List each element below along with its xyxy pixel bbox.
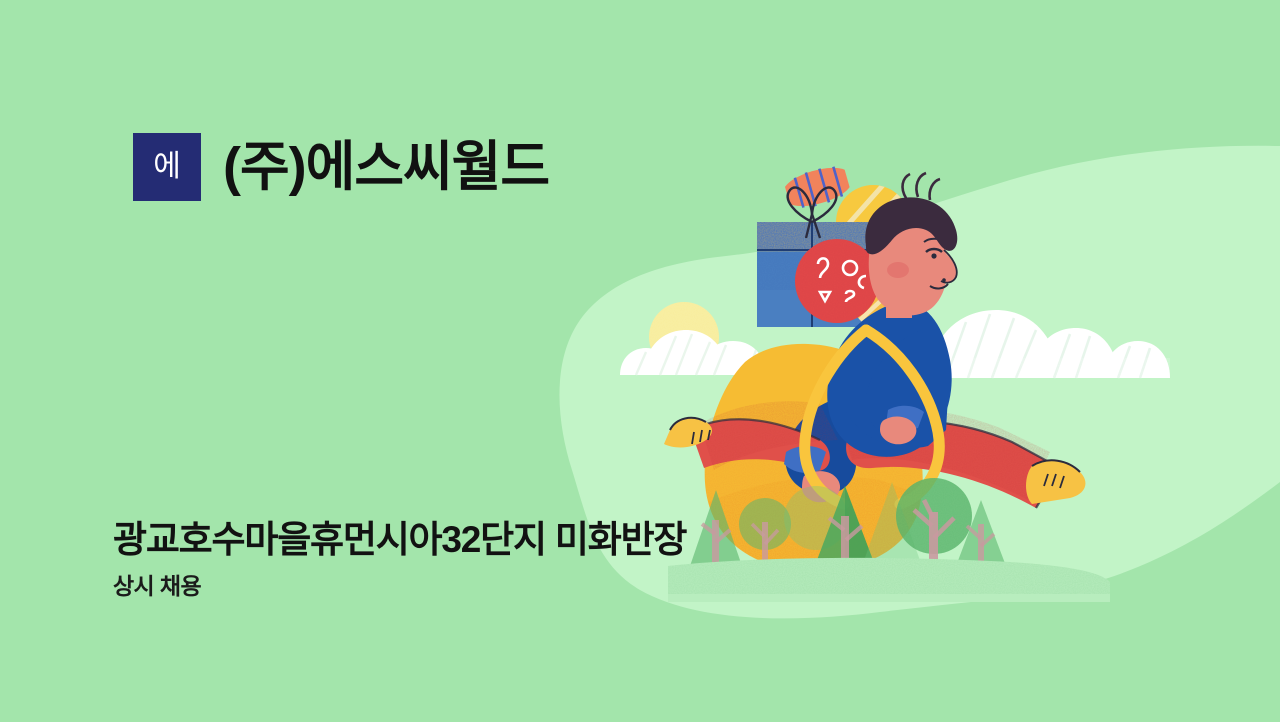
job-posting-banner: 에 (주)에스씨월드 광교호수마을휴먼시아32단지 미화반장 상시 채용 xyxy=(0,0,1280,722)
company-logo-badge-text: 에 xyxy=(153,152,181,182)
job-summary: 광교호수마을휴먼시아32단지 미화반장 상시 채용 xyxy=(113,517,686,601)
job-title: 광교호수마을휴먼시아32단지 미화반장 xyxy=(113,517,686,563)
company-logo-badge: 에 xyxy=(133,133,201,201)
job-status-badge: 상시 채용 xyxy=(113,573,686,601)
company-header: 에 (주)에스씨월드 xyxy=(133,133,549,201)
banner-text-layer: 에 (주)에스씨월드 광교호수마을휴먼시아32단지 미화반장 상시 채용 xyxy=(0,0,1280,722)
company-name: (주)에스씨월드 xyxy=(223,140,549,194)
